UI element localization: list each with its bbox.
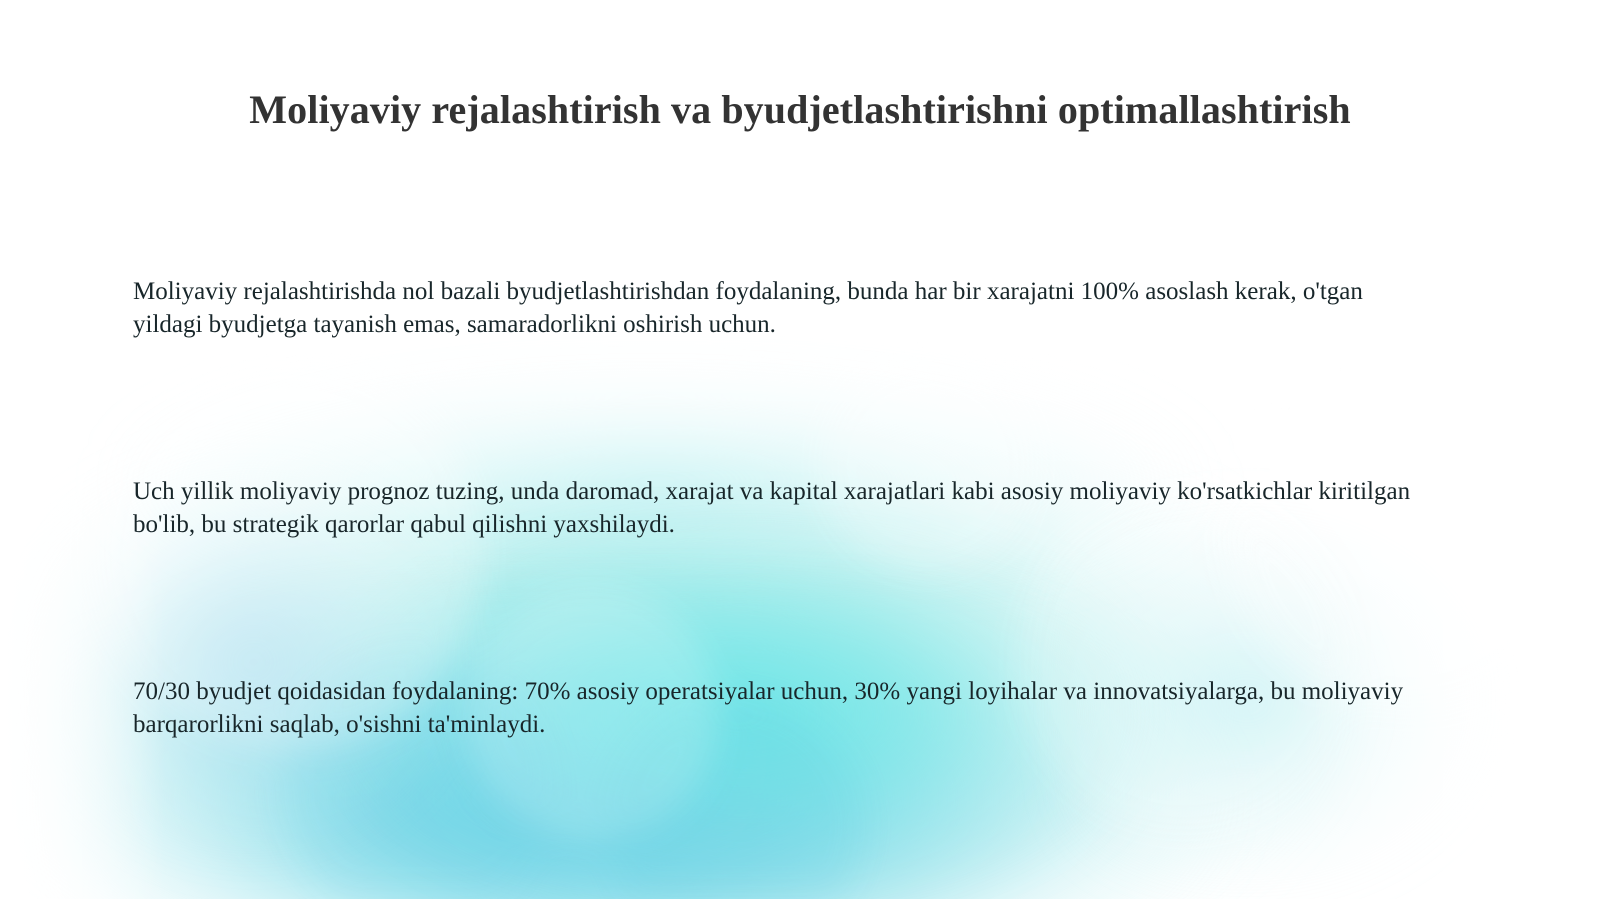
body-paragraph-2: Uch yillik moliyaviy prognoz tuzing, und… [133, 475, 1453, 541]
slide-canvas: Moliyaviy rejalashtirish va byudjetlasht… [0, 0, 1600, 899]
slide-title: Moliyaviy rejalashtirish va byudjetlasht… [0, 85, 1600, 135]
slide-content: Moliyaviy rejalashtirish va byudjetlasht… [0, 0, 1600, 899]
body-paragraph-3: 70/30 byudjet qoidasidan foydalaning: 70… [133, 675, 1468, 741]
body-paragraph-1: Moliyaviy rejalashtirishda nol bazali by… [133, 275, 1363, 341]
